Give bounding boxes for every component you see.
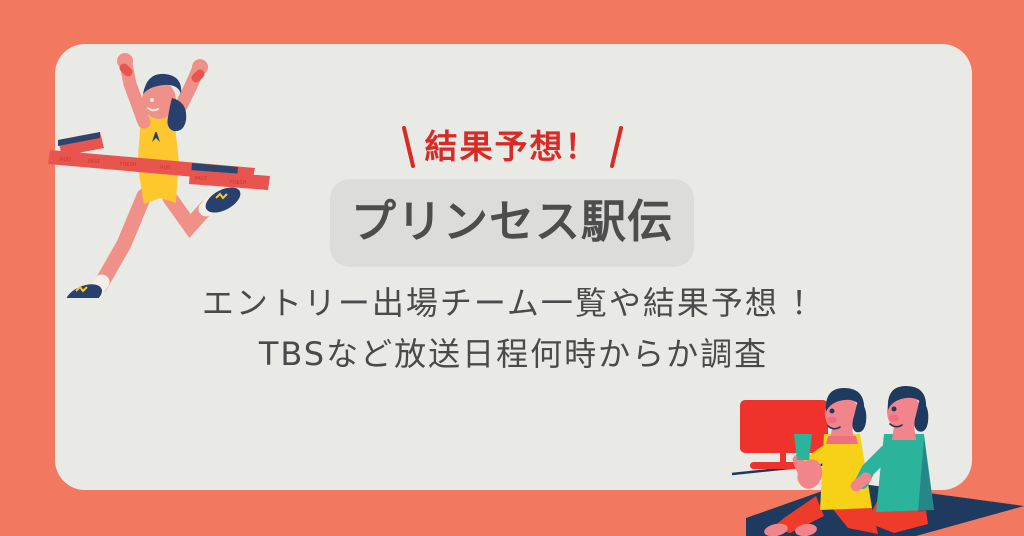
svg-text:FINISH: FINISH [120,162,137,168]
subtitle-block: エントリー出場チーム一覧や結果予想 ！ TBSなど放送日程何時からか調査 [55,285,972,373]
forward-slash-icon [610,124,623,170]
poster-canvas: RUN FAST FINISH RUN FAST FINISH 結果予想！ プリ… [0,0,1024,536]
svg-text:FAST: FAST [88,159,101,165]
subtitle-line-2: TBSなど放送日程何時からか調査 [259,336,768,373]
eyebrow-label: 結果予想！ [425,130,600,163]
two-people-watching-tv-illustration [728,378,1024,536]
running-woman-finish-line-illustration: RUN FAST FINISH RUN FAST FINISH [40,48,270,298]
page-title: プリンセス駅伝 [351,199,673,244]
title-badge: プリンセス駅伝 [330,179,694,267]
eyebrow-banner: 結果予想！ [332,118,692,176]
drink-cup-icon [794,434,812,460]
svg-text:FINISH: FINISH [230,180,247,186]
svg-text:RUN: RUN [160,165,171,171]
svg-text:RUN: RUN [60,157,71,163]
backslash-icon [402,124,415,170]
subtitle-line-1: エントリー出場チーム一覧や結果予想 ！ [202,285,825,322]
svg-text:FAST: FAST [195,176,208,182]
